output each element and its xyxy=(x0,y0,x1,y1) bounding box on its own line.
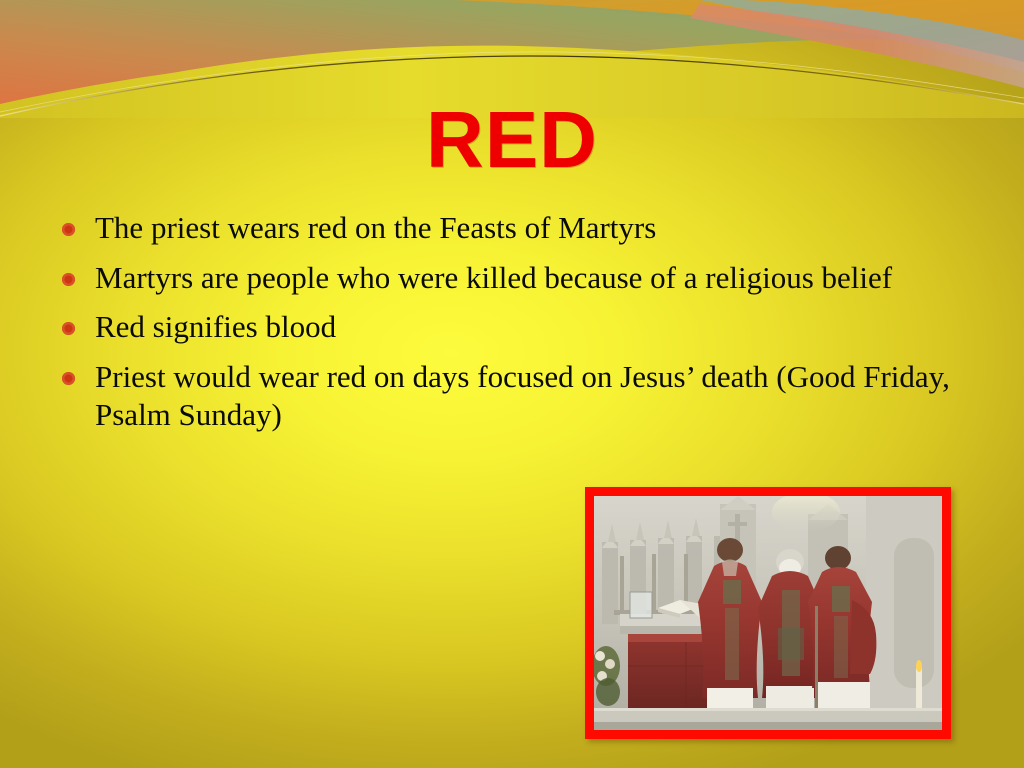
bullet-list: The priest wears red on the Feasts of Ma… xyxy=(55,209,955,446)
list-item-label: The priest wears red on the Feasts of Ma… xyxy=(95,209,955,248)
list-item: The priest wears red on the Feasts of Ma… xyxy=(55,209,955,248)
bullet-dot-icon xyxy=(62,322,75,335)
list-item-label: Red signifies blood xyxy=(95,308,955,347)
photo-illustration xyxy=(594,496,942,730)
wave-band-salmon xyxy=(690,4,1024,88)
slide-canvas: RED The priest wears red on the Feasts o… xyxy=(0,0,1024,768)
photo-priests-at-altar xyxy=(594,496,942,730)
list-item: Red signifies blood xyxy=(55,308,955,347)
bullet-dot-icon xyxy=(62,273,75,286)
photo-frame xyxy=(585,487,951,739)
slide-title: RED xyxy=(0,98,1024,182)
wave-band-teal xyxy=(700,0,1024,72)
bullet-dot-icon xyxy=(62,223,75,236)
list-item-label: Martyrs are people who were killed becau… xyxy=(95,259,955,298)
list-item: Martyrs are people who were killed becau… xyxy=(55,259,955,298)
list-item-label: Priest would wear red on days focused on… xyxy=(95,358,955,435)
list-item: Priest would wear red on days focused on… xyxy=(55,358,955,435)
wave-band-orange xyxy=(300,0,1024,62)
bullet-dot-icon xyxy=(62,372,75,385)
